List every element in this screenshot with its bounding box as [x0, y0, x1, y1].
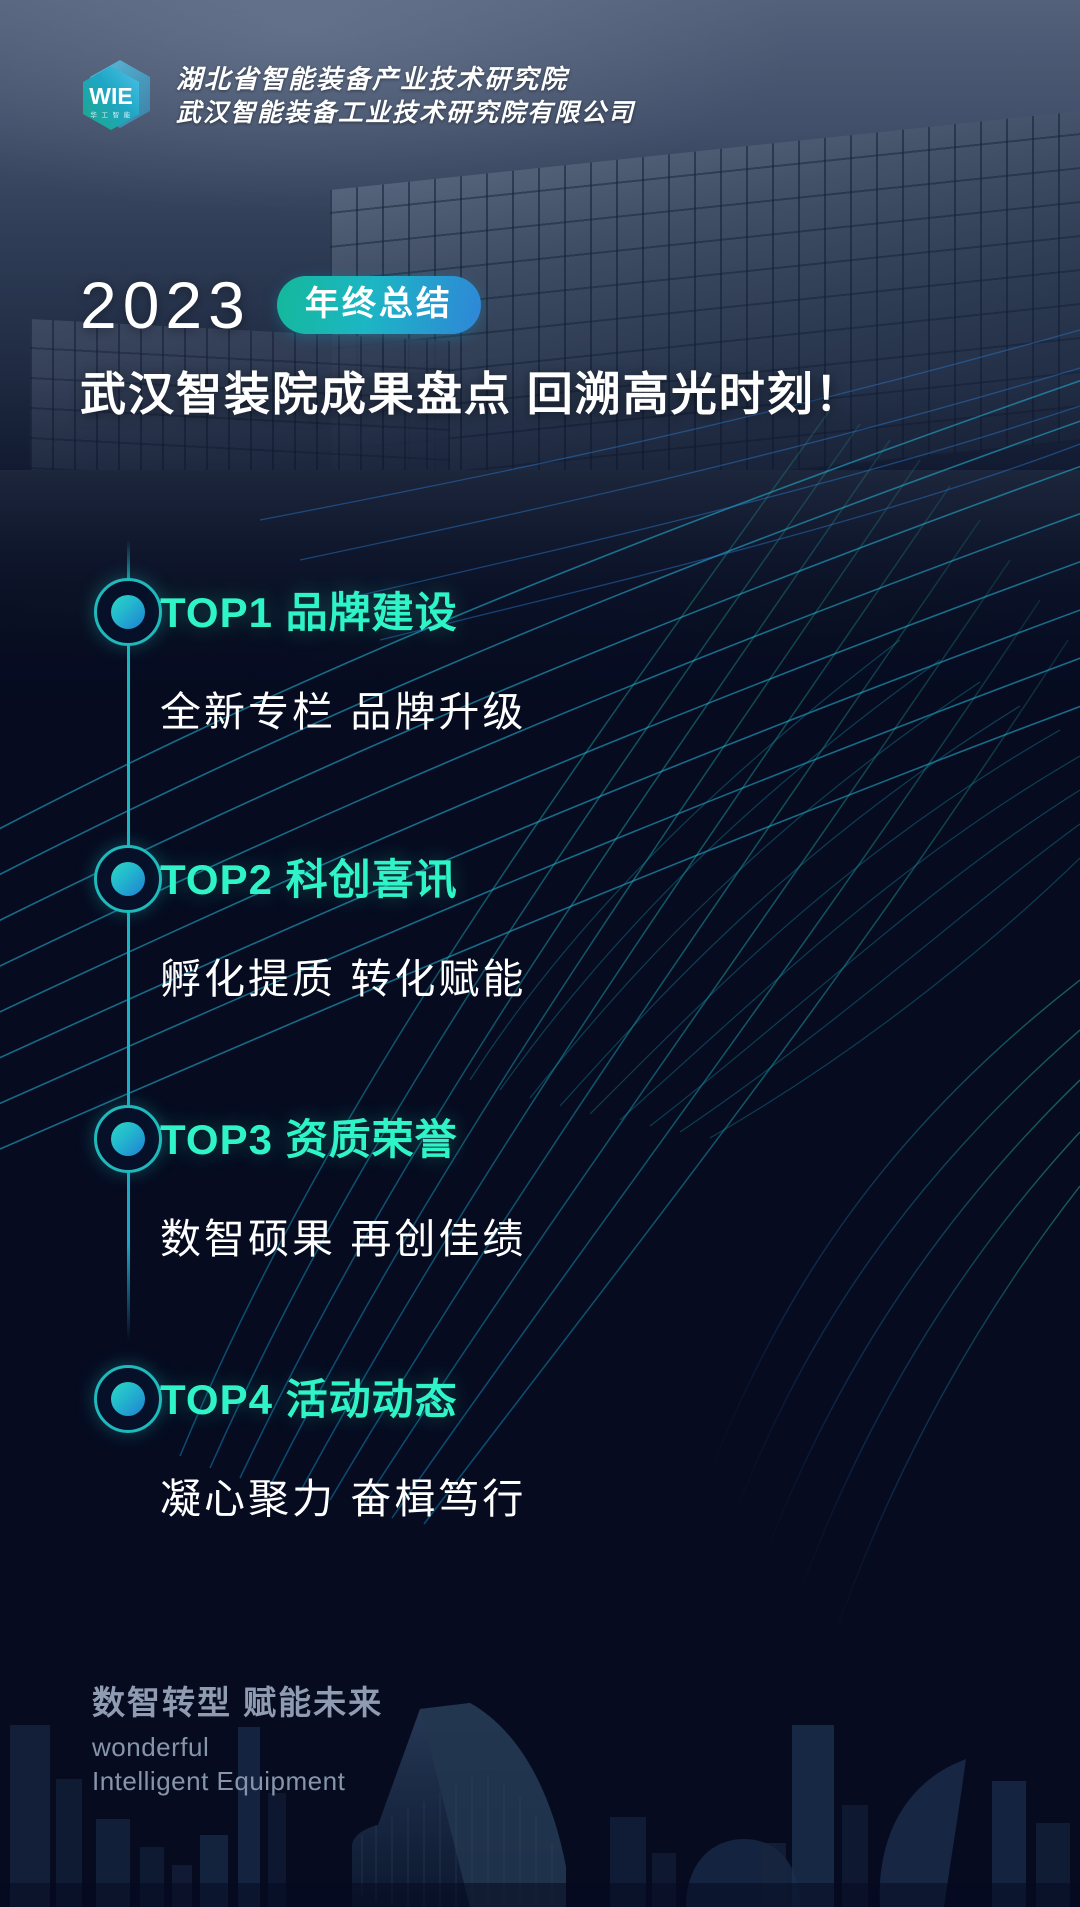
footer-tagline-en-line2: Intelligent Equipment	[92, 1765, 383, 1799]
timeline-dot-3	[94, 1105, 162, 1173]
list-item-subtitle: 数智硕果 再创佳绩	[160, 1219, 526, 1260]
list-item-subtitle: 全新专栏 品牌升级	[160, 692, 526, 733]
list-item-subtitle: 凝心聚力 奋楫笃行	[160, 1479, 526, 1520]
poster-root: WIE 华 工 智 能 湖北省智能装备产业技术研究院 武汉智能装备工业技术研究院…	[0, 0, 1080, 1907]
timeline-dot-4	[94, 1365, 162, 1433]
list-item-title: TOP3 资质荣誉	[160, 1119, 458, 1161]
timeline-connector-line	[127, 540, 130, 1340]
footer-tagline-cn: 数智转型 赋能未来	[92, 1682, 383, 1723]
footer-tagline-en-line1: wonderful	[92, 1731, 383, 1765]
list-item-title: TOP2 科创喜讯	[160, 859, 458, 901]
list-item-title: TOP4 活动动态	[160, 1379, 458, 1421]
list-item-title: TOP1 品牌建设	[160, 592, 458, 634]
footer-tagline-en: wonderful Intelligent Equipment	[92, 1731, 383, 1799]
timeline-dot-1	[94, 578, 162, 646]
list-item-subtitle: 孵化提质 转化赋能	[160, 959, 526, 1000]
footer-tagline: 数智转型 赋能未来 wonderful Intelligent Equipmen…	[92, 1682, 383, 1799]
timeline-dot-2	[94, 845, 162, 913]
achievements-timeline: TOP1 品牌建设 全新专栏 品牌升级 TOP2 科创喜讯 孵化提质 转化赋能 …	[0, 0, 1080, 1907]
